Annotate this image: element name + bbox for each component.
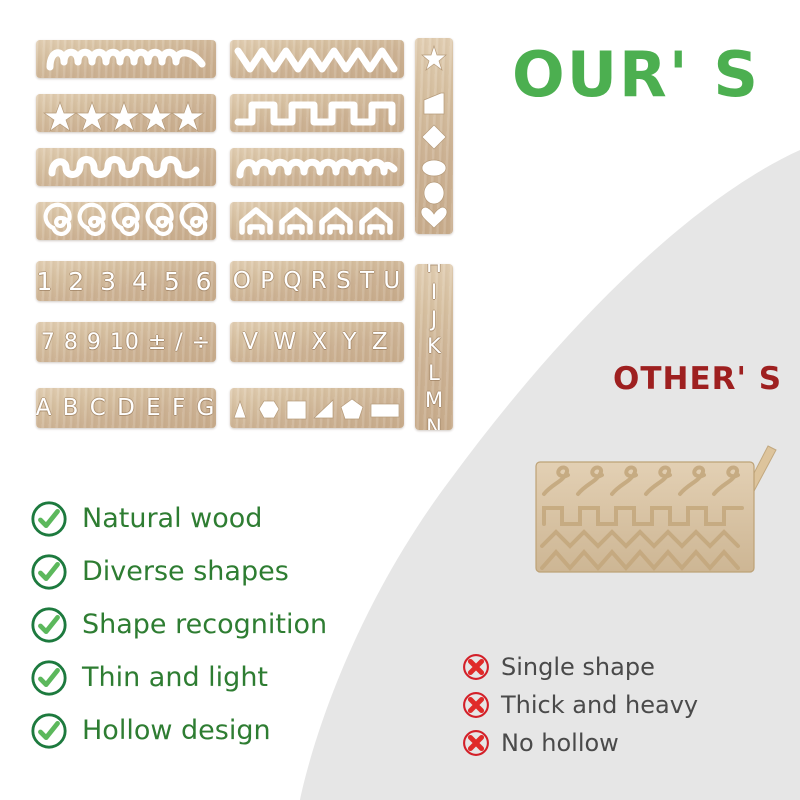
cons-item-label: No hollow — [501, 729, 619, 757]
trapezoid-cut — [424, 93, 444, 114]
cons-item: Single shape — [462, 648, 698, 686]
heart-cut — [421, 207, 447, 228]
stars-cutout — [36, 94, 216, 132]
stencil-stars-ruler — [36, 94, 216, 132]
check-circle-icon — [30, 553, 68, 591]
loops-cutout — [36, 40, 216, 78]
digits-1-6-label: 1 2 3 4 5 6 — [36, 261, 216, 301]
pros-item-label: Hollow design — [82, 715, 271, 746]
pros-item: Natural wood — [30, 492, 327, 545]
triangle-cut — [234, 401, 246, 418]
stencil-letters-a-g: A B C D E F G — [36, 388, 216, 428]
hexagon-cut — [259, 401, 279, 418]
stencil-digits-1-6: 1 2 3 4 5 6 — [36, 261, 216, 301]
oval-cut — [422, 160, 446, 176]
stencil-loops-ruler — [36, 40, 216, 78]
check-circle-icon — [30, 606, 68, 644]
rectangle-cut — [371, 404, 399, 417]
cons-item-label: Single shape — [501, 653, 655, 681]
cons-item: Thick and heavy — [462, 686, 698, 724]
pros-item: Shape recognition — [30, 598, 327, 651]
pros-item-label: Shape recognition — [82, 609, 327, 640]
check-circle-icon — [30, 500, 68, 538]
pros-item: Thin and light — [30, 651, 327, 704]
stencil-squarewave-ruler — [230, 94, 404, 132]
check-circle-icon — [30, 659, 68, 697]
square-cut — [287, 401, 306, 419]
stencil-shapes-ruler — [230, 388, 404, 428]
infographic-canvas: OUR' S OTHER' S — [0, 0, 800, 800]
diamond-cut — [422, 125, 446, 149]
digits-7-10-label: 7 8 9 10 ± / ÷ — [36, 322, 216, 362]
stencil-letters-h-n-vertical: HIJKLMN — [415, 264, 453, 430]
right-triangle-cut — [314, 400, 333, 418]
cross-circle-icon — [462, 729, 490, 757]
stencil-houses-ruler — [230, 202, 404, 240]
pros-item-label: Thin and light — [82, 662, 268, 693]
cons-item: No hollow — [462, 724, 698, 762]
stencil-letters-o-u: O P Q R S T U — [230, 261, 404, 301]
squarewave-cutout — [230, 94, 404, 132]
cross-circle-icon — [462, 691, 490, 719]
letters-v-z-label: V W X Y Z — [230, 322, 404, 362]
check-circle-icon — [30, 712, 68, 750]
stencil-zigzag-ruler — [230, 40, 404, 78]
star-cut — [422, 46, 446, 70]
wooden-board — [536, 462, 754, 572]
zigzag-cutout — [230, 40, 404, 78]
cons-list: Single shape Thick and heavy No hollow — [462, 648, 698, 762]
stencil-letters-v-z: V W X Y Z — [230, 322, 404, 362]
ours-heading: OUR' S — [512, 38, 760, 111]
stencil-shapes-vertical — [415, 38, 453, 234]
cross-circle-icon — [462, 653, 490, 681]
letters-a-g-label: A B C D E F G — [36, 388, 216, 428]
circle-cut — [424, 182, 444, 204]
shapes-cutout — [230, 388, 404, 428]
pros-item-label: Natural wood — [82, 503, 262, 534]
spirals-cutout — [36, 202, 216, 240]
pros-item: Diverse shapes — [30, 545, 327, 598]
stencil-spirals-ruler — [36, 202, 216, 240]
pros-item-label: Diverse shapes — [82, 556, 289, 587]
other-product-photo — [518, 440, 780, 580]
stencil-arcs-ruler — [230, 148, 404, 186]
stencil-digits-7-10: 7 8 9 10 ± / ÷ — [36, 322, 216, 362]
cons-item-label: Thick and heavy — [501, 691, 698, 719]
waves-cutout — [36, 148, 216, 186]
letters-o-u-label: O P Q R S T U — [230, 261, 404, 301]
shapes-vertical-cutout — [415, 38, 453, 234]
pros-item: Hollow design — [30, 704, 327, 757]
letters-h-n-label: HIJKLMN — [415, 264, 453, 430]
stencil-waves-ruler — [36, 148, 216, 186]
houses-cutout — [230, 202, 404, 240]
arcs-cutout — [230, 148, 404, 186]
pentagon-cut — [341, 399, 363, 419]
others-heading: OTHER' S — [613, 361, 782, 397]
pros-list: Natural wood Diverse shapes Shape recogn… — [30, 492, 327, 757]
